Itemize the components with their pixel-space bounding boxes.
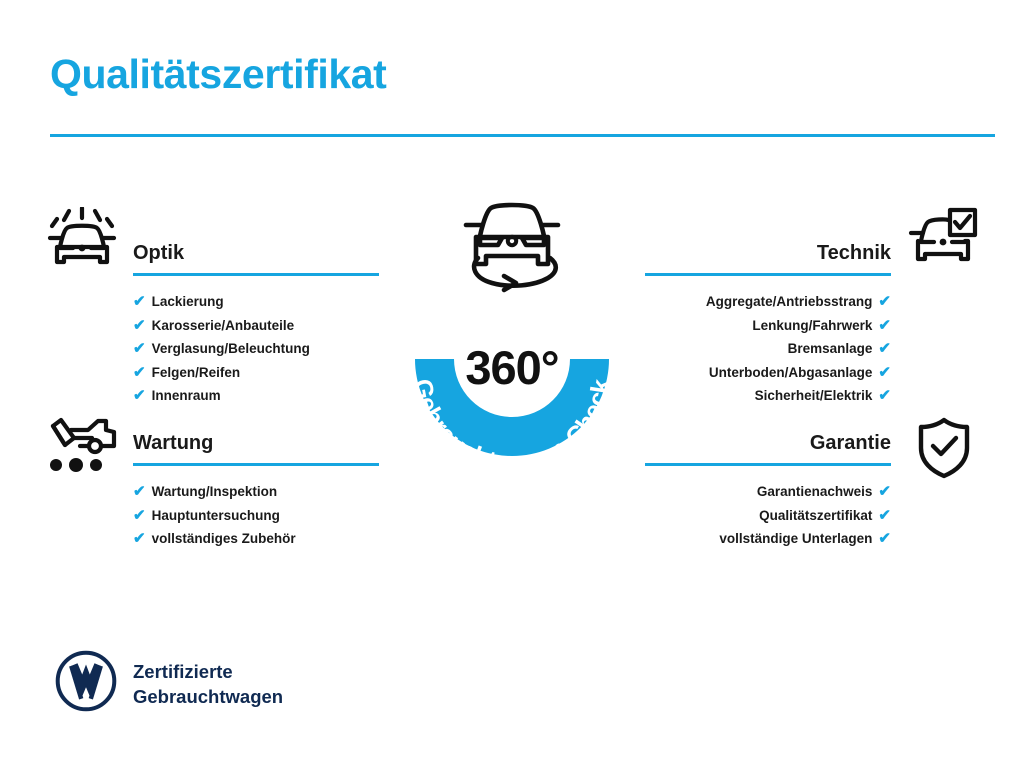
- list-item-label: Felgen/Reifen: [152, 361, 241, 385]
- list-item-label: Qualitätszertifikat: [759, 504, 872, 528]
- list-item-label: Unterboden/Abgasanlage: [709, 361, 873, 385]
- checklist-wartung: ✔ Wartung/Inspektion ✔ Hauptuntersuchung…: [133, 480, 379, 551]
- vw-logo-icon: [55, 650, 117, 717]
- shield-check-icon: [916, 417, 972, 484]
- check-icon: ✔: [878, 531, 891, 546]
- section-header-wartung: Wartung: [133, 428, 379, 470]
- list-item-label: Lenkung/Fahrwerk: [752, 314, 872, 338]
- section-divider-garantie: [645, 463, 891, 466]
- section-technik: Technik Aggregate/Antriebsstrang ✔ Lenku…: [645, 238, 891, 408]
- list-item-label: Karosserie/Anbauteile: [152, 314, 295, 338]
- list-item-label: Lackierung: [152, 290, 224, 314]
- section-wartung: Wartung ✔ Wartung/Inspektion ✔ Hauptunte…: [133, 428, 379, 551]
- vw-certified-logo: Zertifizierte Gebrauchtwagen: [55, 650, 283, 717]
- list-item: Sicherheit/Elektrik ✔: [645, 384, 891, 408]
- check-icon: ✔: [133, 484, 146, 499]
- list-item: ✔ Karosserie/Anbauteile: [133, 314, 379, 338]
- list-item: Qualitätszertifikat ✔: [645, 504, 891, 528]
- section-header-garantie: Garantie: [645, 428, 891, 470]
- check-icon: ✔: [878, 318, 891, 333]
- page-title: Qualitätszertifikat: [50, 52, 386, 97]
- section-title-wartung: Wartung: [133, 428, 379, 458]
- footer-line-2: Gebrauchtwagen: [133, 684, 283, 709]
- list-item: vollständige Unterlagen ✔: [645, 527, 891, 551]
- list-item: Unterboden/Abgasanlage ✔: [645, 361, 891, 385]
- car-shine-icon: [47, 207, 117, 278]
- certificate-page: Qualitätszertifikat: [0, 0, 1024, 768]
- list-item-label: Innenraum: [152, 384, 221, 408]
- check-icon: ✔: [133, 341, 146, 356]
- car-service-pencil-icon: [44, 416, 120, 483]
- list-item: Lenkung/Fahrwerk ✔: [645, 314, 891, 338]
- list-item: Aggregate/Antriebsstrang ✔: [645, 290, 891, 314]
- list-item-label: Garantienachweis: [757, 480, 873, 504]
- section-optik: Optik ✔ Lackierung ✔ Karosserie/Anbautei…: [133, 238, 379, 408]
- list-item: ✔ Lackierung: [133, 290, 379, 314]
- list-item-label: vollständige Unterlagen: [719, 527, 872, 551]
- section-title-garantie: Garantie: [645, 428, 891, 458]
- list-item-label: Wartung/Inspektion: [152, 480, 278, 504]
- check-icon: ✔: [878, 365, 891, 380]
- car-rotation-icon: [452, 196, 572, 307]
- checklist-optik: ✔ Lackierung ✔ Karosserie/Anbauteile ✔ V…: [133, 290, 379, 408]
- check-icon: ✔: [133, 365, 146, 380]
- check-icon: ✔: [133, 388, 146, 403]
- section-divider-wartung: [133, 463, 379, 466]
- section-divider-technik: [645, 273, 891, 276]
- list-item: Bremsanlage ✔: [645, 337, 891, 361]
- list-item-label: Aggregate/Antriebsstrang: [706, 290, 873, 314]
- check-icon: ✔: [878, 341, 891, 356]
- list-item: Garantienachweis ✔: [645, 480, 891, 504]
- car-checkbox-icon: [908, 207, 978, 278]
- check-icon: ✔: [133, 318, 146, 333]
- list-item: ✔ Hauptuntersuchung: [133, 504, 379, 528]
- check-icon: ✔: [133, 508, 146, 523]
- list-item-label: Verglasung/Beleuchtung: [152, 337, 310, 361]
- section-header-optik: Optik: [133, 238, 379, 280]
- section-garantie: Garantie Garantienachweis ✔ Qualitätszer…: [645, 428, 891, 551]
- badge-center-label: 360°: [382, 340, 642, 395]
- section-title-optik: Optik: [133, 238, 379, 268]
- list-item: ✔ Innenraum: [133, 384, 379, 408]
- check-icon: ✔: [133, 294, 146, 309]
- list-item-label: Sicherheit/Elektrik: [755, 384, 873, 408]
- section-divider-optik: [133, 273, 379, 276]
- title-divider: [50, 134, 995, 137]
- section-title-technik: Technik: [645, 238, 891, 268]
- list-item-label: Bremsanlage: [788, 337, 873, 361]
- list-item: ✔ Verglasung/Beleuchtung: [133, 337, 379, 361]
- list-item: ✔ vollständiges Zubehör: [133, 527, 379, 551]
- list-item: ✔ Felgen/Reifen: [133, 361, 379, 385]
- checklist-garantie: Garantienachweis ✔ Qualitätszertifikat ✔…: [645, 480, 891, 551]
- check-icon: ✔: [878, 484, 891, 499]
- check-icon: ✔: [878, 294, 891, 309]
- list-item: ✔ Wartung/Inspektion: [133, 480, 379, 504]
- check-icon: ✔: [878, 508, 891, 523]
- footer-line-1: Zertifizierte: [133, 659, 283, 684]
- check-icon: ✔: [133, 531, 146, 546]
- section-header-technik: Technik: [645, 238, 891, 280]
- list-item-label: Hauptuntersuchung: [152, 504, 280, 528]
- list-item-label: vollständiges Zubehör: [152, 527, 296, 551]
- check-icon: ✔: [878, 388, 891, 403]
- footer-text: Zertifizierte Gebrauchtwagen: [133, 659, 283, 709]
- checklist-technik: Aggregate/Antriebsstrang ✔ Lenkung/Fahrw…: [645, 290, 891, 408]
